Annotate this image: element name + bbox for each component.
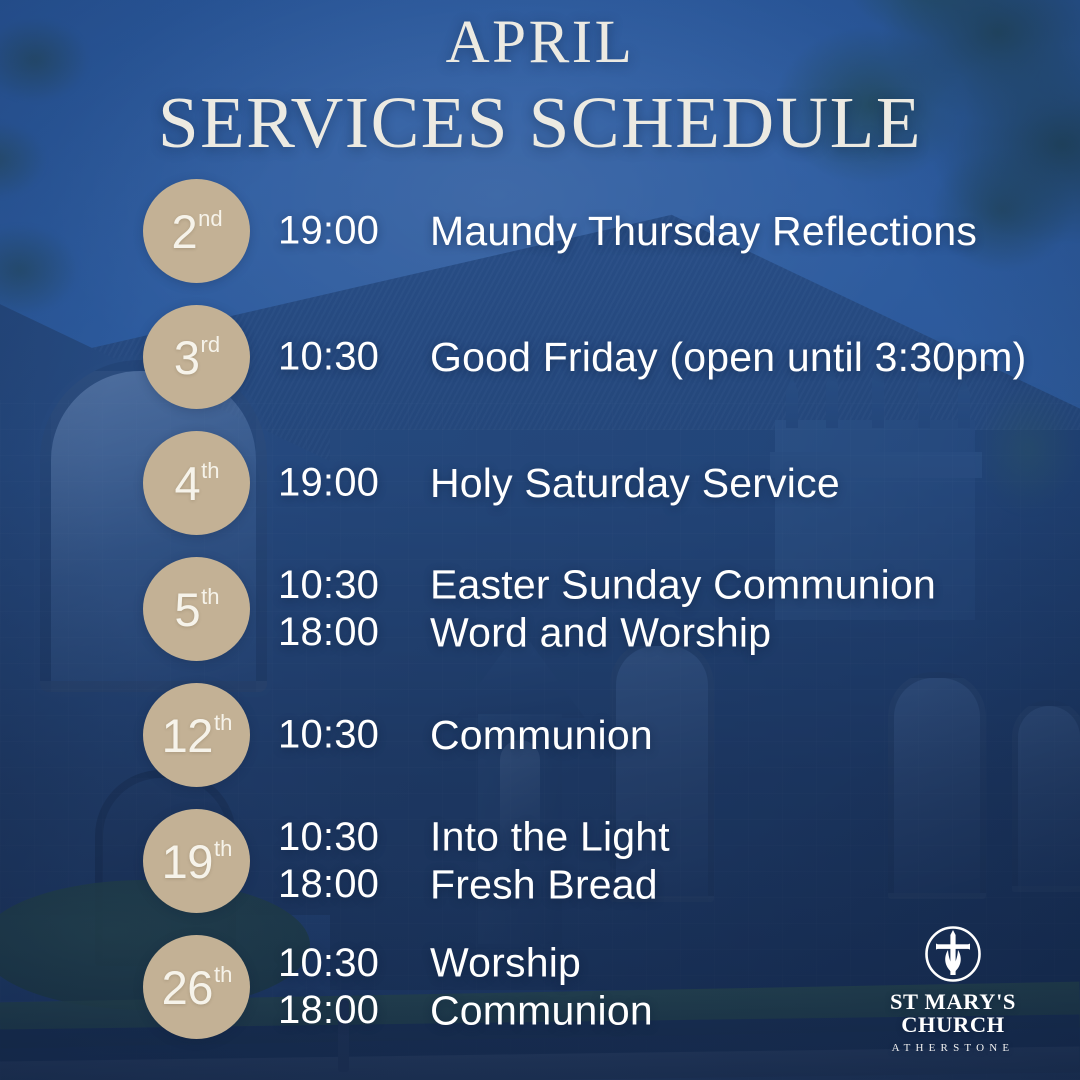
service-times: 10:3018:00 (278, 562, 379, 656)
service-times: 19:00 (278, 207, 379, 254)
date-ordinal-suffix: th (214, 964, 232, 986)
service-name: Communion (430, 711, 653, 759)
service-time: 10:30 (278, 711, 379, 758)
schedule-row: 2nd19:00Maundy Thursday Reflections (0, 168, 1080, 294)
service-time: 10:30 (278, 562, 379, 609)
service-time: 19:00 (278, 459, 379, 506)
date-badge: 5th (143, 557, 250, 661)
service-name: Holy Saturday Service (430, 459, 840, 507)
service-names: WorshipCommunion (430, 939, 653, 1036)
service-names: Into the LightFresh Bread (430, 813, 670, 910)
church-logo: ST MARY'S CHURCH ATHERSTONE (848, 923, 1058, 1054)
date-ordinal-suffix: th (201, 460, 219, 482)
service-times: 10:30 (278, 333, 379, 380)
service-name: Fresh Bread (430, 861, 670, 909)
service-times: 10:3018:00 (278, 940, 379, 1034)
service-time: 10:30 (278, 333, 379, 380)
date-number: 19 (162, 838, 213, 885)
service-name: Communion (430, 987, 653, 1035)
date-number: 4 (175, 460, 201, 507)
service-name: Into the Light (430, 813, 670, 861)
service-time: 18:00 (278, 861, 379, 908)
logo-location: ATHERSTONE (848, 1043, 1058, 1054)
service-name: Good Friday (open until 3:30pm) (430, 333, 1026, 381)
service-name: Word and Worship (430, 609, 936, 657)
service-times: 19:00 (278, 459, 379, 506)
date-badge: 19th (143, 809, 250, 913)
service-time: 19:00 (278, 207, 379, 254)
date-badge: 4th (143, 431, 250, 535)
schedule-row: 19th10:3018:00Into the LightFresh Bread (0, 798, 1080, 924)
schedule-row: 5th10:3018:00Easter Sunday CommunionWord… (0, 546, 1080, 672)
service-times: 10:3018:00 (278, 814, 379, 908)
date-badge: 3rd (143, 305, 250, 409)
cross-in-circle-icon (922, 923, 984, 985)
poster-content: APRIL SERVICES SCHEDULE 2nd19:00Maundy T… (0, 0, 1080, 1080)
service-names: Holy Saturday Service (430, 459, 840, 507)
service-name: Worship (430, 939, 653, 987)
service-time: 10:30 (278, 940, 379, 987)
service-times: 10:30 (278, 711, 379, 758)
date-badge: 26th (143, 935, 250, 1039)
date-ordinal-suffix: th (214, 712, 232, 734)
service-names: Communion (430, 711, 653, 759)
logo-church-name: ST MARY'S CHURCH (848, 991, 1058, 1036)
date-number: 5 (175, 586, 201, 633)
poster-heading: APRIL SERVICES SCHEDULE (0, 12, 1080, 159)
date-number: 26 (162, 964, 213, 1011)
date-ordinal-suffix: th (214, 838, 232, 860)
month-title: APRIL (0, 12, 1080, 73)
schedule-subtitle: SERVICES SCHEDULE (0, 86, 1080, 159)
date-ordinal-suffix: nd (198, 208, 222, 230)
services-schedule-poster: APRIL SERVICES SCHEDULE 2nd19:00Maundy T… (0, 0, 1080, 1080)
date-number: 3 (174, 334, 200, 381)
service-names: Good Friday (open until 3:30pm) (430, 333, 1026, 381)
schedule-row: 4th19:00Holy Saturday Service (0, 420, 1080, 546)
schedule-row: 12th10:30Communion (0, 672, 1080, 798)
service-name: Easter Sunday Communion (430, 561, 936, 609)
schedule-row: 3rd10:30Good Friday (open until 3:30pm) (0, 294, 1080, 420)
schedule-list: 2nd19:00Maundy Thursday Reflections3rd10… (0, 168, 1080, 1050)
service-time: 18:00 (278, 987, 379, 1034)
date-number: 2 (171, 208, 197, 255)
service-time: 10:30 (278, 814, 379, 861)
service-name: Maundy Thursday Reflections (430, 207, 977, 255)
date-badge: 2nd (143, 179, 250, 283)
date-ordinal-suffix: th (201, 586, 219, 608)
date-number: 12 (162, 712, 213, 759)
date-ordinal-suffix: rd (201, 334, 221, 356)
service-names: Easter Sunday CommunionWord and Worship (430, 561, 936, 658)
service-time: 18:00 (278, 609, 379, 656)
date-badge: 12th (143, 683, 250, 787)
service-names: Maundy Thursday Reflections (430, 207, 977, 255)
